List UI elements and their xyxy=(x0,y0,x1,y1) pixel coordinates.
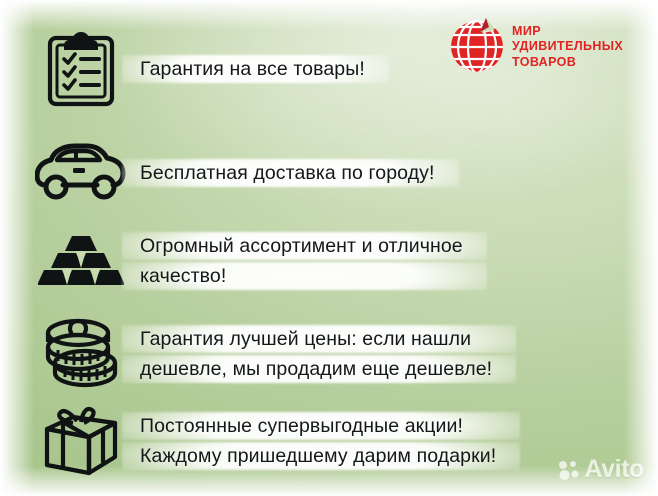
promo-banner: Гарантия на все товары! Бесплатная доста… xyxy=(0,0,658,496)
avito-dots-icon xyxy=(558,459,580,481)
logo-line-1: МИР xyxy=(512,24,623,40)
feature-line: Огромный ассортимент и отличное xyxy=(132,231,471,261)
car-icon xyxy=(35,141,127,205)
feature-line: дешевле, мы продадим еще дешевле! xyxy=(132,354,500,384)
feature-line: Гарантия лучшей цены: если нашли xyxy=(132,324,500,354)
feature-line: Каждому пришедшему дарим подарки! xyxy=(132,441,504,471)
feature-text: Гарантия на все товары! xyxy=(140,54,373,84)
brand-logo: МИР УДИВИТЕЛЬНЫХ ТОВАРОВ xyxy=(449,18,623,76)
gold-bars-icon xyxy=(38,230,124,292)
feature-text: Огромный ассортимент и отличное качество… xyxy=(140,231,471,291)
feature-line: Постоянные супервыгодные акции! xyxy=(132,411,504,441)
feature-text: Бесплатная доставка по городу! xyxy=(140,158,443,188)
clipboard-checklist-icon xyxy=(43,28,119,110)
logo-line-3: ТОВАРОВ xyxy=(512,55,623,71)
gift-box-icon xyxy=(39,403,123,479)
feature-line: Гарантия на все товары! xyxy=(132,54,373,84)
feature-row-gifts: Постоянные супервыгодные акции! Каждому … xyxy=(22,400,638,482)
feature-line: Бесплатная доставка по городу! xyxy=(132,158,443,188)
avito-label: Avito xyxy=(584,455,644,484)
feature-text: Постоянные супервыгодные акции! Каждому … xyxy=(140,411,504,471)
feature-row-best-price: Гарантия лучшей цены: если нашли дешевле… xyxy=(22,312,638,396)
logo-text: МИР УДИВИТЕЛЬНЫХ ТОВАРОВ xyxy=(512,24,623,71)
feature-line: качество! xyxy=(132,261,471,291)
red-globe-icon xyxy=(449,18,505,76)
avito-watermark: Avito xyxy=(558,455,644,484)
feature-row-assortment: Огромный ассортимент и отличное качество… xyxy=(22,224,638,298)
logo-line-2: УДИВИТЕЛЬНЫХ xyxy=(512,39,623,55)
coins-stack-icon xyxy=(40,315,122,393)
feature-row-delivery: Бесплатная доставка по городу! xyxy=(22,136,638,210)
feature-text: Гарантия лучшей цены: если нашли дешевле… xyxy=(140,324,500,384)
